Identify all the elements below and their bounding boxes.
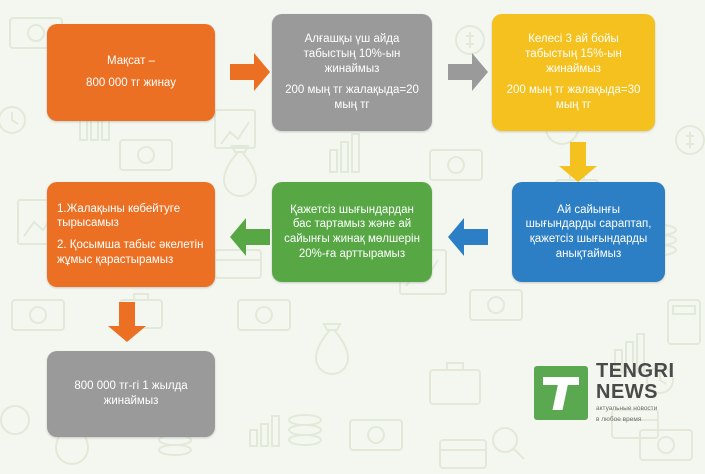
- tengrinews-logo: TENGRI NEWS актуальные новости в любое в…: [534, 358, 684, 428]
- node-goal-line-2: 800 000 тг жинау: [86, 76, 176, 91]
- node-first-three-months-line-1: Алғашқы үш айда табыстың 10%-ын жинаймыз: [282, 32, 422, 76]
- logo-mark-icon: [534, 366, 588, 420]
- arrow-right-first-to-next: [446, 50, 490, 94]
- logo-tagline-line2: в любое время: [596, 416, 675, 424]
- node-increase-income: 1.Жалақыны көбейтуге тырысамыз 2. Қосымш…: [47, 182, 215, 287]
- node-first-three-months-line-2: 200 мың тг жалақыда=20 мың тг: [282, 83, 422, 112]
- arrow-left-reduce-to-income: [228, 215, 272, 259]
- arrow-right-goal-to-first: [228, 50, 272, 94]
- node-next-three-months-line-1: Келесі 3 ай бойы табыстың 15%-ын жинаймы…: [502, 32, 645, 76]
- node-goal: Мақсат – 800 000 тг жинау: [47, 24, 215, 121]
- node-increase-income-line-1: 1.Жалақыны көбейтуге тырысамыз: [57, 202, 205, 231]
- node-result-text: 800 000 тг-гі 1 жылда жинаймыз: [57, 379, 205, 408]
- node-reduce-expenses: Қажетсіз шығындардан бас тартамыз және а…: [272, 182, 432, 282]
- node-goal-line-1: Мақсат –: [107, 54, 155, 69]
- node-analyze-expenses-text: Ай сайынғы шығындарды сараптап, қажетсіз…: [522, 203, 655, 262]
- node-next-three-months-line-2: 200 мың тг жалақыда=30 мың тг: [502, 83, 645, 112]
- node-result: 800 000 тг-гі 1 жылда жинаймыз: [47, 351, 215, 437]
- node-first-three-months: Алғашқы үш айда табыстың 10%-ын жинаймыз…: [272, 14, 432, 131]
- node-increase-income-line-2: 2. Қосымша табыс әкелетін жұмыс қарастыр…: [57, 238, 205, 267]
- node-reduce-expenses-text: Қажетсіз шығындардан бас тартамыз және а…: [282, 203, 422, 262]
- arrow-down-next-to-analyze: [556, 140, 600, 184]
- arrow-left-analyze-to-reduce: [446, 215, 490, 259]
- node-next-three-months: Келесі 3 ай бойы табыстың 15%-ын жинаймы…: [492, 14, 655, 131]
- logo-name-line1: TENGRI: [596, 361, 675, 381]
- arrow-down-income-to-result: [105, 300, 149, 344]
- logo-text: TENGRI NEWS актуальные новости в любое в…: [596, 361, 675, 424]
- logo-name-line2: NEWS: [596, 382, 675, 402]
- logo-tagline-line1: актуальные новости: [596, 405, 675, 413]
- node-analyze-expenses: Ай сайынғы шығындарды сараптап, қажетсіз…: [512, 182, 665, 282]
